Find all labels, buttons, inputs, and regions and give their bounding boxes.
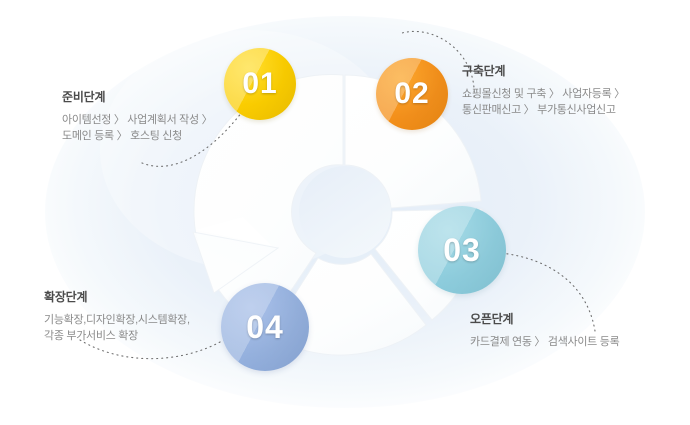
step-desc-01-line-1: 아이템선정 〉 사업계획서 작성 〉 [62, 112, 212, 128]
step-desc-01-line-2: 도메인 등록 〉 호스팅 신청 [62, 128, 212, 144]
step-desc-02-line-2: 통신판매신고 〉 부가통신사업신고 [462, 102, 625, 118]
step-label-04: 확장단계 기능확장,디자인확장,시스템확장, 각종 부가서비스 확장 [44, 288, 190, 344]
step-circle-04[interactable]: 04 [221, 283, 309, 371]
cycle-diagram: 01 02 03 04 준비단계 아이템선정 〉 사업계획서 작성 〉 도메인 … [0, 0, 690, 425]
step-circle-03[interactable]: 03 [418, 206, 506, 294]
step-heading-02: 구축단계 [462, 62, 625, 79]
step-heading-04: 확장단계 [44, 288, 190, 305]
step-label-01: 준비단계 아이템선정 〉 사업계획서 작성 〉 도메인 등록 〉 호스팅 신청 [62, 88, 212, 144]
step-heading-01: 준비단계 [62, 88, 212, 105]
step-desc-03-line-1: 카드결제 연동 〉 검색사이트 등록 [470, 334, 619, 350]
step-number-04: 04 [246, 311, 284, 343]
step-heading-03: 오픈단계 [470, 310, 619, 327]
step-circle-01[interactable]: 01 [224, 48, 296, 120]
step-label-02: 구축단계 쇼핑몰신청 및 구축 〉 사업자등록 〉 통신판매신고 〉 부가통신사… [462, 62, 625, 118]
step-desc-04-line-2: 각종 부가서비스 확장 [44, 328, 190, 344]
step-number-02: 02 [394, 79, 429, 109]
step-desc-02-line-1: 쇼핑몰신청 및 구축 〉 사업자등록 〉 [462, 86, 625, 102]
step-desc-04-line-1: 기능확장,디자인확장,시스템확장, [44, 312, 190, 328]
step-number-03: 03 [443, 234, 481, 266]
step-number-01: 01 [242, 69, 277, 99]
step-circle-02[interactable]: 02 [376, 58, 448, 130]
step-label-03: 오픈단계 카드결제 연동 〉 검색사이트 등록 [470, 310, 619, 350]
